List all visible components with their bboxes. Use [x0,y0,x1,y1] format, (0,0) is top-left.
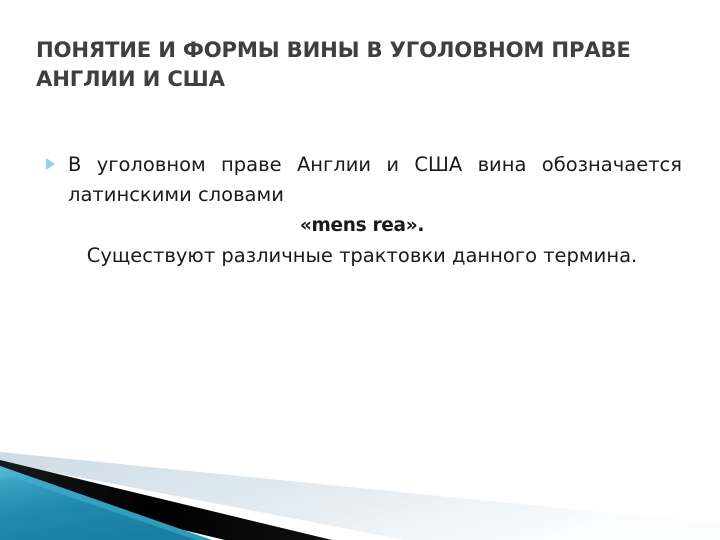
emphasis-term: «mens rea». [300,215,424,236]
body-paragraph-1: В уголовном праве Англии и США вина обоз… [68,150,682,210]
bullet-list-item: В уголовном праве Англии и США вина обоз… [42,150,682,210]
body-paragraph-2: Существуют различные трактовки данного т… [42,241,682,271]
emphasis-line: «mens rea». [42,210,682,241]
teal-wedge-shape [0,466,212,540]
slide-title: ПОНЯТИЕ И ФОРМЫ ВИНЫ В УГОЛОВНОМ ПРАВЕ А… [36,36,676,94]
triangle-right-icon [46,158,55,170]
slide-body: В уголовном праве Англии и США вина обоз… [42,150,682,271]
black-band-shape [0,460,332,540]
pale-band-shape [0,452,720,540]
teal-highlight-shape [0,466,212,540]
slide-canvas: ПОНЯТИЕ И ФОРМЫ ВИНЫ В УГОЛОВНОМ ПРАВЕ А… [0,0,720,540]
